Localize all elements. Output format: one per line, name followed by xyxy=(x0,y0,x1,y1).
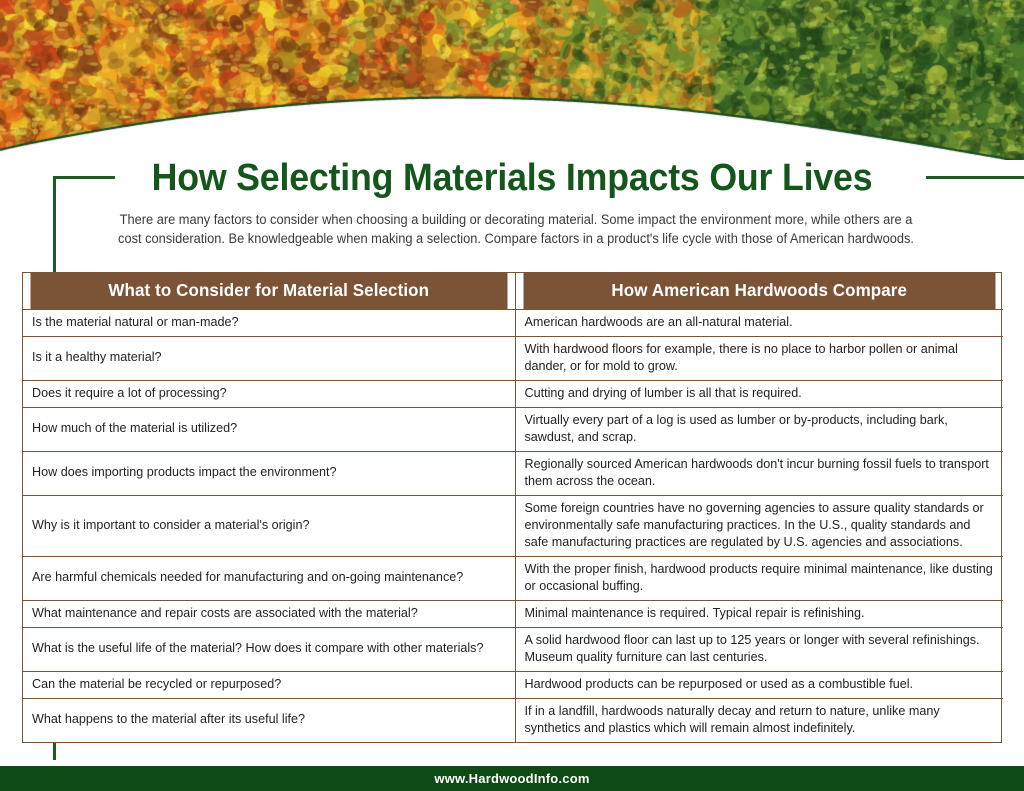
cell-compare: If in a landfill, hardwoods naturally de… xyxy=(515,698,1003,742)
cell-consider: How does importing products impact the e… xyxy=(23,451,515,495)
table-row: Are harmful chemicals needed for manufac… xyxy=(23,556,1003,600)
page-subtitle: There are many factors to consider when … xyxy=(117,210,915,248)
column-header-compare: How American Hardwoods Compare xyxy=(522,273,995,309)
hero-forest-image xyxy=(0,0,1024,160)
table-row: Does it require a lot of processing?Cutt… xyxy=(23,380,1003,407)
table-row: Can the material be recycled or repurpos… xyxy=(23,671,1003,698)
cell-consider: What happens to the material after its u… xyxy=(23,698,515,742)
material-comparison-table: What to Consider for Material Selection … xyxy=(22,272,1002,743)
footer-bar: www.HardwoodInfo.com xyxy=(0,766,1024,791)
cell-consider: Is it a healthy material? xyxy=(23,336,515,380)
cell-consider: Why is it important to consider a materi… xyxy=(23,495,515,556)
table-row: What maintenance and repair costs are as… xyxy=(23,600,1003,627)
table-row: Is the material natural or man-made?Amer… xyxy=(23,309,1003,336)
poster-page: How Selecting Materials Impacts Our Live… xyxy=(0,0,1024,791)
cell-consider: Are harmful chemicals needed for manufac… xyxy=(23,556,515,600)
cell-compare: Virtually every part of a log is used as… xyxy=(515,407,1003,451)
table-row: What happens to the material after its u… xyxy=(23,698,1003,742)
cell-compare: Minimal maintenance is required. Typical… xyxy=(515,600,1003,627)
table-row: How much of the material is utilized?Vir… xyxy=(23,407,1003,451)
forest-canopy-canvas xyxy=(0,0,1024,160)
cell-compare: American hardwoods are an all-natural ma… xyxy=(515,309,1003,336)
column-header-consider: What to Consider for Material Selection xyxy=(30,273,507,309)
table-header-row: What to Consider for Material Selection … xyxy=(23,273,1003,309)
cell-consider: How much of the material is utilized? xyxy=(23,407,515,451)
table-row: What is the useful life of the material?… xyxy=(23,627,1003,671)
cell-consider: What maintenance and repair costs are as… xyxy=(23,600,515,627)
footer-website-link[interactable]: www.HardwoodInfo.com xyxy=(434,771,589,786)
table-body: Is the material natural or man-made?Amer… xyxy=(23,309,1003,742)
page-title: How Selecting Materials Impacts Our Live… xyxy=(31,156,994,200)
cell-compare: With the proper finish, hardwood product… xyxy=(515,556,1003,600)
cell-consider: Is the material natural or man-made? xyxy=(23,309,515,336)
table-row: Why is it important to consider a materi… xyxy=(23,495,1003,556)
table-row: Is it a healthy material?With hardwood f… xyxy=(23,336,1003,380)
cell-compare: With hardwood floors for example, there … xyxy=(515,336,1003,380)
cell-compare: A solid hardwood floor can last up to 12… xyxy=(515,627,1003,671)
cell-compare: Some foreign countries have no governing… xyxy=(515,495,1003,556)
title-block: How Selecting Materials Impacts Our Live… xyxy=(0,156,1024,200)
cell-compare: Regionally sourced American hardwoods do… xyxy=(515,451,1003,495)
cell-consider: What is the useful life of the material?… xyxy=(23,627,515,671)
cell-compare: Hardwood products can be repurposed or u… xyxy=(515,671,1003,698)
cell-consider: Can the material be recycled or repurpos… xyxy=(23,671,515,698)
cell-compare: Cutting and drying of lumber is all that… xyxy=(515,380,1003,407)
table-row: How does importing products impact the e… xyxy=(23,451,1003,495)
cell-consider: Does it require a lot of processing? xyxy=(23,380,515,407)
